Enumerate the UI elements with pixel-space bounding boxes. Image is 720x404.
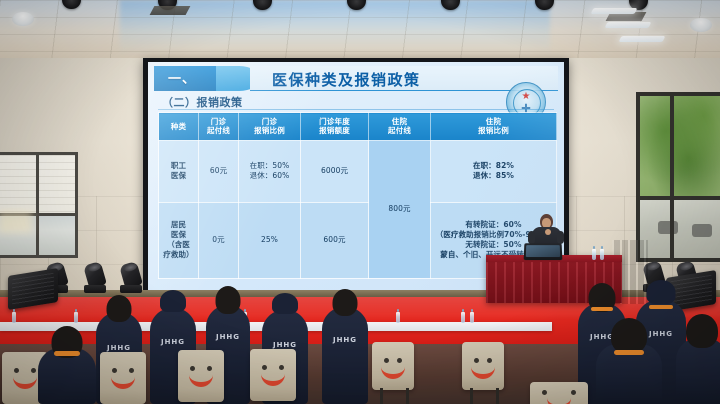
moving-head-light-icon — [84, 263, 106, 293]
jacket-collar-stripe — [649, 305, 673, 309]
window-right — [636, 92, 720, 262]
cell-inpatient-deductible-merged: 800元 — [369, 140, 431, 278]
attendee-head — [333, 289, 358, 316]
attendee-cap — [647, 280, 676, 304]
chair-leg — [380, 388, 383, 404]
ceiling-light-panel — [619, 36, 666, 42]
chair-leg — [470, 388, 473, 404]
smiley-chair — [250, 349, 296, 401]
cell-outpatient-ratio: 25% — [239, 202, 301, 278]
cell-outpatient-annual-cap: 600元 — [301, 202, 369, 278]
table-row: 职工 医保 60元 在职：50% 退休：60% 6000元 800元 在职：82… — [159, 140, 557, 202]
presenter-arm — [557, 231, 564, 244]
smiley-chair — [100, 352, 146, 404]
slide-title-bar: 一、 医保种类及报销政策 — [154, 66, 558, 91]
cell-outpatient-annual-cap: 6000元 — [301, 140, 369, 202]
chair-leg — [496, 388, 499, 404]
slide-divider — [158, 109, 554, 110]
slide-section-number: 一、 — [168, 68, 196, 87]
table-header-row: 种类 门诊 起付线 门诊 报销比例 门诊年度 报销额度 — [159, 113, 557, 141]
water-bottle — [74, 312, 78, 323]
attendee — [596, 344, 662, 404]
cell-outpatient-deductible: 0元 — [199, 202, 239, 278]
cell-type: 职工 医保 — [159, 140, 199, 202]
smiley-chair — [178, 350, 224, 402]
col-header-outpatient-deductible: 门诊 起付线 — [199, 113, 239, 141]
jacket-logo: JHHG — [273, 341, 297, 349]
col-header-inpatient-ratio: 住院 报销比例 — [431, 113, 557, 141]
water-bottle — [461, 312, 465, 323]
attendee-head — [107, 295, 132, 322]
presenter-arm — [528, 231, 535, 244]
ceiling-dome-light-icon — [690, 18, 712, 32]
water-bottle — [12, 312, 16, 323]
window-mullion — [670, 96, 674, 258]
outdoor-scooter — [658, 221, 678, 234]
window-left — [0, 152, 78, 258]
attendee-head — [611, 318, 647, 354]
jacket-collar-stripe — [591, 307, 613, 311]
window-glare — [0, 211, 32, 233]
attendee: JHHG — [322, 307, 368, 404]
smiley-chair — [462, 342, 504, 390]
jacket-logo: JHHG — [333, 336, 357, 344]
water-bottle — [470, 312, 474, 323]
conference-hall-photo: 一、 医保种类及报销政策 ★ ✛ （二）报销政策 种类 门诊 — [0, 0, 720, 404]
cell-inpatient-ratio: 在职：82% 退休：85% — [431, 140, 557, 202]
jacket-logo: JHHG — [161, 338, 185, 346]
emblem-star-icon: ★ — [522, 92, 531, 102]
attendee-cap — [272, 293, 298, 314]
presenter-hand — [545, 229, 551, 235]
jacket-collar-stripe — [614, 350, 644, 355]
jacket-collar-stripe — [54, 351, 80, 356]
cell-outpatient-ratio: 在职：50% 退休：60% — [239, 140, 301, 202]
chair-leg — [406, 388, 409, 404]
outdoor-trees — [640, 96, 720, 196]
water-bottle — [592, 249, 596, 260]
attendee-head — [216, 286, 241, 314]
col-header-inpatient-deductible: 住院 起付线 — [369, 113, 431, 141]
col-header-outpatient-annual-cap: 门诊年度 报销额度 — [301, 113, 369, 141]
laptop-screen — [526, 245, 560, 257]
window-mullion — [36, 155, 39, 255]
attendee-head — [686, 314, 718, 348]
smiley-chair — [530, 382, 588, 404]
attendee — [676, 338, 720, 404]
moving-head-light-icon — [120, 263, 142, 293]
jacket-logo: JHHG — [107, 344, 131, 352]
slide-title: 医保种类及报销政策 — [272, 69, 421, 90]
col-header-outpatient-ratio: 门诊 报销比例 — [239, 113, 301, 141]
water-bottle — [396, 312, 400, 323]
cell-type: 居民 医保 （含医 疗救助） — [159, 202, 199, 278]
ceiling-vent — [150, 6, 191, 15]
window-mullion — [640, 196, 720, 200]
water-bottle — [600, 249, 604, 260]
outdoor-scooter — [692, 224, 712, 237]
reimbursement-policy-table: 种类 门诊 起付线 门诊 报销比例 门诊年度 报销额度 — [158, 112, 557, 279]
attendee-cap — [160, 290, 186, 312]
attendee — [38, 348, 96, 404]
jacket-logo: JHHG — [216, 333, 240, 341]
col-header-type: 种类 — [159, 113, 199, 141]
jacket-logo: JHHG — [649, 330, 673, 338]
ceiling-light-panel — [605, 22, 652, 28]
smiley-chair — [372, 342, 414, 390]
ceiling-dome-light-icon — [12, 12, 34, 26]
presenter-laptop — [524, 243, 563, 260]
ceiling-light-panel — [591, 8, 638, 14]
cell-outpatient-deductible: 60元 — [199, 140, 239, 202]
slide-subtitle: （二）报销政策 — [162, 94, 243, 110]
audience-table — [352, 322, 552, 331]
